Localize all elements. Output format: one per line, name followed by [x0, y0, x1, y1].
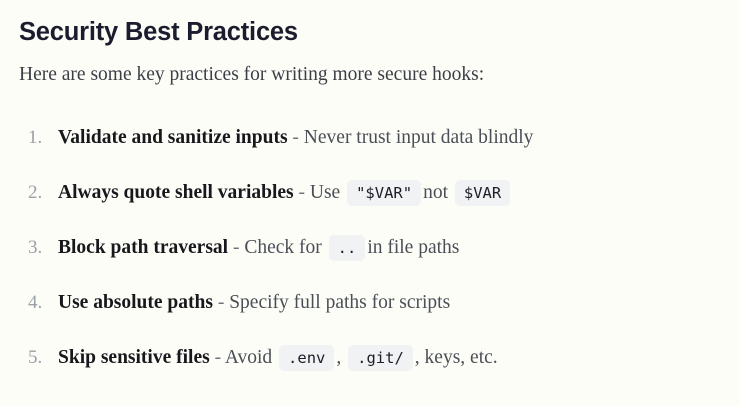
list-item-number: 4.	[28, 275, 58, 330]
code-chip: ..	[329, 235, 366, 261]
list-item-term: Always quote shell variables	[58, 182, 294, 203]
code-chip: .env	[279, 345, 334, 371]
list-item-term: Use absolute paths	[58, 292, 213, 313]
list-item-description-middle: in file paths	[367, 237, 464, 258]
code-chip: .git/	[348, 345, 413, 371]
code-chip: "$VAR"	[347, 180, 421, 206]
list-item: 1. Validate and sanitize inputs - Never …	[0, 110, 740, 165]
list-item-number: 1.	[28, 110, 58, 165]
list-item-body: Validate and sanitize inputs - Never tru…	[58, 110, 538, 165]
list-item-body: Block path traversal - Check for ..in fi…	[58, 220, 464, 276]
list-item-separator: -	[210, 347, 225, 368]
list-item-term: Block path traversal	[58, 237, 228, 258]
list-item-description: Check for	[244, 237, 326, 258]
list-item-description: Specify full paths for scripts	[229, 292, 455, 313]
list-item-body: Skip sensitive files - Avoid .env, .git/…	[58, 330, 503, 386]
page-title: Security Best Practices	[0, 0, 740, 48]
practices-list: 1. Validate and sanitize inputs - Never …	[0, 88, 740, 385]
list-item-description-middle: ,	[336, 347, 346, 368]
list-item-term: Validate and sanitize inputs	[58, 127, 288, 148]
list-item-separator: -	[228, 237, 244, 258]
list-item-number: 3.	[28, 220, 58, 275]
list-item-number: 2.	[28, 165, 58, 220]
document-page: Security Best Practices Here are some ke…	[0, 0, 740, 406]
list-item: 4. Use absolute paths - Specify full pat…	[0, 275, 740, 330]
intro-paragraph: Here are some key practices for writing …	[0, 48, 740, 88]
list-item-separator: -	[213, 292, 229, 313]
list-item-description-middle: not	[423, 182, 453, 203]
list-item-separator: -	[288, 127, 304, 148]
list-item-description-after: , keys, etc.	[415, 347, 503, 368]
list-item-body: Always quote shell variables - Use "$VAR…	[58, 165, 512, 221]
list-item-body: Use absolute paths - Specify full paths …	[58, 275, 455, 330]
list-item-description: Use	[310, 182, 345, 203]
list-item-term: Skip sensitive files	[58, 347, 210, 368]
list-item-separator: -	[294, 182, 310, 203]
code-chip: $VAR	[455, 180, 510, 206]
list-item: 3. Block path traversal - Check for ..in…	[0, 220, 740, 275]
list-item-number: 5.	[28, 330, 58, 385]
list-item-description: Never trust input data blindly	[304, 127, 539, 148]
list-item: 2. Always quote shell variables - Use "$…	[0, 165, 740, 220]
list-item-description: Avoid	[225, 347, 277, 368]
list-item: 5. Skip sensitive files - Avoid .env, .g…	[0, 330, 740, 385]
